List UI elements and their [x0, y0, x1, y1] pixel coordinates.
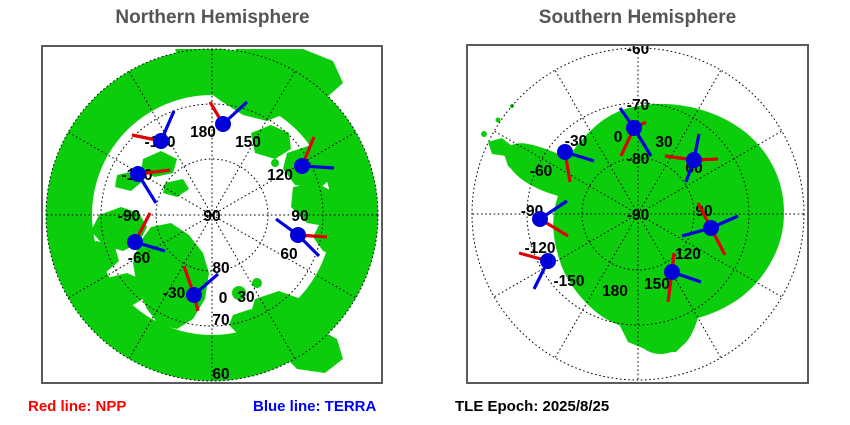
tle-epoch-label: TLE Epoch: 2025/8/25 — [455, 398, 609, 415]
lon-tick-180: 180 — [602, 283, 628, 300]
lat-tick-neg90: -90 — [627, 207, 649, 224]
panel-northern-hemisphere: Northern Hemisphere — [0, 0, 425, 425]
polar-plot-south: -90 -80 -70 -60 0 30 60 90 120 150 180 -… — [468, 46, 807, 382]
lat-tick-neg70: -70 — [627, 97, 649, 114]
lat-tick-70: 70 — [212, 312, 229, 329]
panel-southern-hemisphere: Southern Hemisphere — [425, 0, 850, 425]
lon-tick-neg30: -30 — [163, 285, 185, 302]
lon-tick-150: 150 — [644, 276, 670, 293]
lon-tick-90: 90 — [291, 208, 308, 225]
lat-tick-60: 60 — [212, 366, 229, 382]
lon-tick-neg150: -150 — [553, 273, 584, 290]
lon-tick-30: 30 — [655, 134, 672, 151]
lon-tick-0: 0 — [614, 129, 623, 146]
lon-tick-180: 180 — [190, 124, 216, 141]
landmass-south — [481, 104, 784, 354]
lon-tick-neg90: -90 — [118, 208, 140, 225]
lat-tick-neg80: -80 — [627, 151, 649, 168]
polar-plot-north: 90 80 70 60 30 60 90 120 150 180 -150 -1… — [43, 47, 381, 382]
lat-tick-neg60: -60 — [627, 46, 649, 58]
lat-tick-90: 90 — [203, 208, 220, 225]
page-title-north: Northern Hemisphere — [0, 7, 425, 29]
figure-root: Northern Hemisphere — [0, 0, 850, 425]
lat-tick-80: 80 — [212, 260, 229, 277]
plot-frame-north: 90 80 70 60 30 60 90 120 150 180 -150 -1… — [41, 45, 383, 384]
lon-tick-30: 30 — [237, 289, 254, 306]
lon-tick-120: 120 — [675, 246, 701, 263]
lon-tick-0: 0 — [219, 290, 228, 307]
lon-tick-60: 60 — [280, 246, 297, 263]
lon-tick-neg60: -60 — [530, 163, 552, 180]
plot-frame-south: -90 -80 -70 -60 0 30 60 90 120 150 180 -… — [466, 44, 809, 384]
lon-tick-120: 120 — [267, 167, 293, 184]
satellite-marker — [519, 253, 556, 289]
legend-terra: Blue line: TERRA — [253, 398, 376, 415]
lon-tick-neg60: -60 — [128, 250, 150, 267]
lon-tick-150: 150 — [235, 134, 261, 151]
legend-npp: Red line: NPP — [28, 398, 126, 415]
page-title-south: Southern Hemisphere — [425, 7, 850, 29]
